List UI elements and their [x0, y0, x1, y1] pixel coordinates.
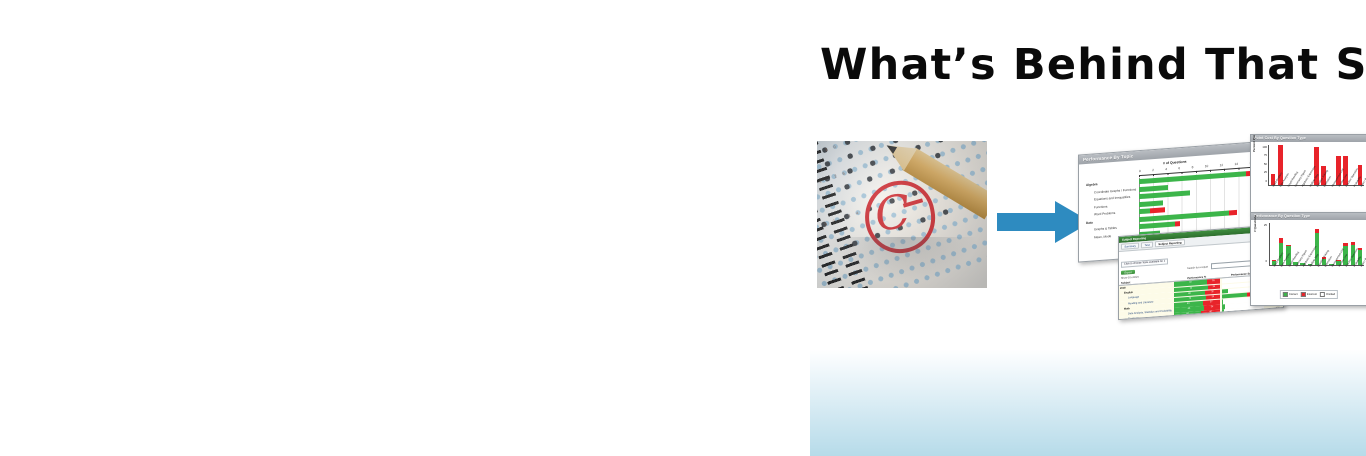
bar-segment-incorrect — [1229, 210, 1237, 216]
scantron-answer-sheet-photo: 11 12 13 14 17 18 19 20 23 24 25 26 31 3… — [817, 141, 987, 288]
legend-label: Incorrect — [1307, 293, 1317, 296]
bar-segment-correct — [1139, 208, 1150, 214]
legend-swatch-correct — [1283, 292, 1288, 297]
x-label-wrap: Data Analysis — [1276, 186, 1282, 206]
x-label-wrap: Multiple Step — [1306, 186, 1312, 206]
test-filter-dropdown[interactable]: Click to choose Tests available for 1 — [1121, 258, 1168, 267]
page-title: What’s Behind That Score? — [820, 40, 1348, 90]
y-axis-label-questions: # Questions — [1253, 212, 1257, 232]
score-bar-correct — [1222, 315, 1224, 320]
panel-title-point-cost: Point Cost By Question Type — [1251, 135, 1366, 142]
tab-summary[interactable]: Summary — [1121, 243, 1139, 251]
x-label-wrap: Geometry Figure — [1292, 266, 1298, 288]
panel-performance-by-question-type[interactable]: Performance By Question Type # Questions… — [1250, 212, 1366, 306]
score-bar-correct — [1222, 305, 1225, 310]
x-label-wrap: Multiple Step — [1306, 266, 1312, 288]
cell-raw — [1281, 310, 1284, 316]
x-axis-labels: Word ProblemData AnalysisGraph ReadingGe… — [1269, 266, 1364, 288]
y-axis-label-point-cost: Percent Point Cost — [1252, 134, 1256, 152]
tick: 4 — [1165, 167, 1167, 171]
right-arrow-icon — [997, 201, 1091, 243]
score-bar-correct — [1222, 310, 1225, 315]
x-label-wrap: Ratio / Proportion — [1357, 266, 1363, 288]
legend-label: Omitted — [1326, 293, 1335, 296]
export-button[interactable]: Export — [1121, 270, 1135, 276]
tab-test[interactable]: Test — [1141, 242, 1153, 249]
score-bar-correct — [1222, 299, 1224, 304]
cell-performance-score — [1221, 317, 1265, 320]
score-bar-incorrect — [1231, 319, 1234, 320]
y-tick: 75 — [1264, 153, 1267, 157]
legend-label: Correct — [1289, 293, 1298, 296]
legend-item-incorrect: Incorrect — [1301, 292, 1317, 297]
y-tick: 25 — [1264, 223, 1267, 227]
tick: 8 — [1192, 165, 1194, 169]
cell-score-total: 100 — [1265, 316, 1281, 320]
pct-incorrect: 42 — [1200, 315, 1219, 320]
y-axis-ticks: 250 — [1259, 223, 1267, 263]
y-tick: 0 — [1265, 259, 1267, 263]
score-bar-correct — [1222, 289, 1228, 294]
x-label-wrap: Algebraic Expression — [1299, 266, 1305, 288]
tick: 14 — [1235, 162, 1239, 166]
x-label-wrap: Graph Reading — [1284, 186, 1290, 206]
chart-legend: Correct Incorrect Omitted — [1280, 290, 1338, 299]
tick: 10 — [1205, 164, 1209, 168]
x-label-wrap: Fraction Operation — [1342, 266, 1348, 288]
cell-performance-pct: 5842 — [1173, 315, 1221, 320]
x-label-wrap: Equation Solving — [1313, 186, 1319, 206]
x-label-wrap: Estimation — [1321, 266, 1327, 288]
bar-segment-incorrect — [1150, 207, 1164, 213]
y-axis-ticks: 1007550250 — [1258, 145, 1267, 183]
x-label-wrap: Equation Solving — [1313, 266, 1319, 288]
x-label-wrap: Number Line — [1335, 186, 1341, 206]
y-tick: 50 — [1264, 162, 1267, 166]
x-label-wrap: Ratio / Proportion — [1357, 186, 1363, 206]
photo-vignette — [817, 141, 987, 288]
cell-score-total: 100 — [1265, 310, 1281, 316]
panel-title-performance-by-question-type: Performance By Question Type — [1251, 213, 1366, 220]
y-tick: 0 — [1265, 179, 1267, 183]
x-label-wrap: Estimation — [1320, 186, 1326, 206]
x-label-wrap: Fraction Operation — [1342, 186, 1348, 206]
panel-point-cost-by-question-type[interactable]: Point Cost By Question Type Percent Poin… — [1250, 134, 1366, 214]
tick: 6 — [1178, 166, 1180, 170]
legend-item-correct: Correct — [1283, 292, 1298, 297]
legend-swatch-omitted — [1320, 292, 1325, 297]
pct-incorrect: 40 — [1201, 310, 1219, 316]
x-axis-labels: Word ProblemData AnalysisGraph ReadingGe… — [1268, 186, 1364, 206]
x-label-wrap: Measurement Unit — [1328, 266, 1334, 288]
x-label-wrap: Probability — [1349, 186, 1355, 206]
tick: 0 — [1139, 169, 1141, 173]
y-tick: 100 — [1262, 145, 1267, 149]
tick: 12 — [1220, 163, 1224, 167]
decorative-gradient-band — [810, 340, 1366, 456]
cell-raw — [1281, 315, 1284, 320]
x-label-wrap: Number Line — [1335, 266, 1341, 288]
legend-swatch-incorrect — [1301, 292, 1306, 297]
x-label-wrap: Word Problem — [1269, 186, 1275, 206]
x-label-wrap: Word Problem — [1270, 266, 1276, 288]
cell-score-total: 100 — [1265, 305, 1281, 311]
x-label-wrap: Graph Reading — [1284, 266, 1290, 288]
x-label-wrap: Probability — [1350, 266, 1356, 288]
tab-subject-reporting[interactable]: Subject Reporting — [1155, 239, 1185, 247]
tick: 2 — [1152, 168, 1154, 172]
report-dashboard-collage: Performance By Topic # of Questions 0 2 … — [1078, 134, 1366, 314]
x-label-wrap: Algebraic Expression — [1298, 186, 1304, 206]
search-label: Search for a report — [1187, 265, 1208, 270]
pct-correct: 58 — [1174, 317, 1201, 320]
x-label-wrap: Geometry Figure — [1291, 186, 1297, 206]
x-label-wrap: Measurement Unit — [1328, 186, 1334, 206]
axis-label-questions: # of Questions — [1163, 160, 1187, 166]
pct-correct: 60 — [1174, 311, 1202, 317]
y-tick: 25 — [1264, 170, 1267, 174]
cell-performance-score — [1221, 312, 1265, 320]
legend-item-omitted: Omitted — [1320, 292, 1335, 297]
x-label-wrap: Data Analysis — [1277, 266, 1283, 288]
bar-segment-incorrect — [1175, 221, 1181, 227]
topic-row-labels: Algebra Coordinate Graphs / Functions Eq… — [1079, 178, 1139, 242]
